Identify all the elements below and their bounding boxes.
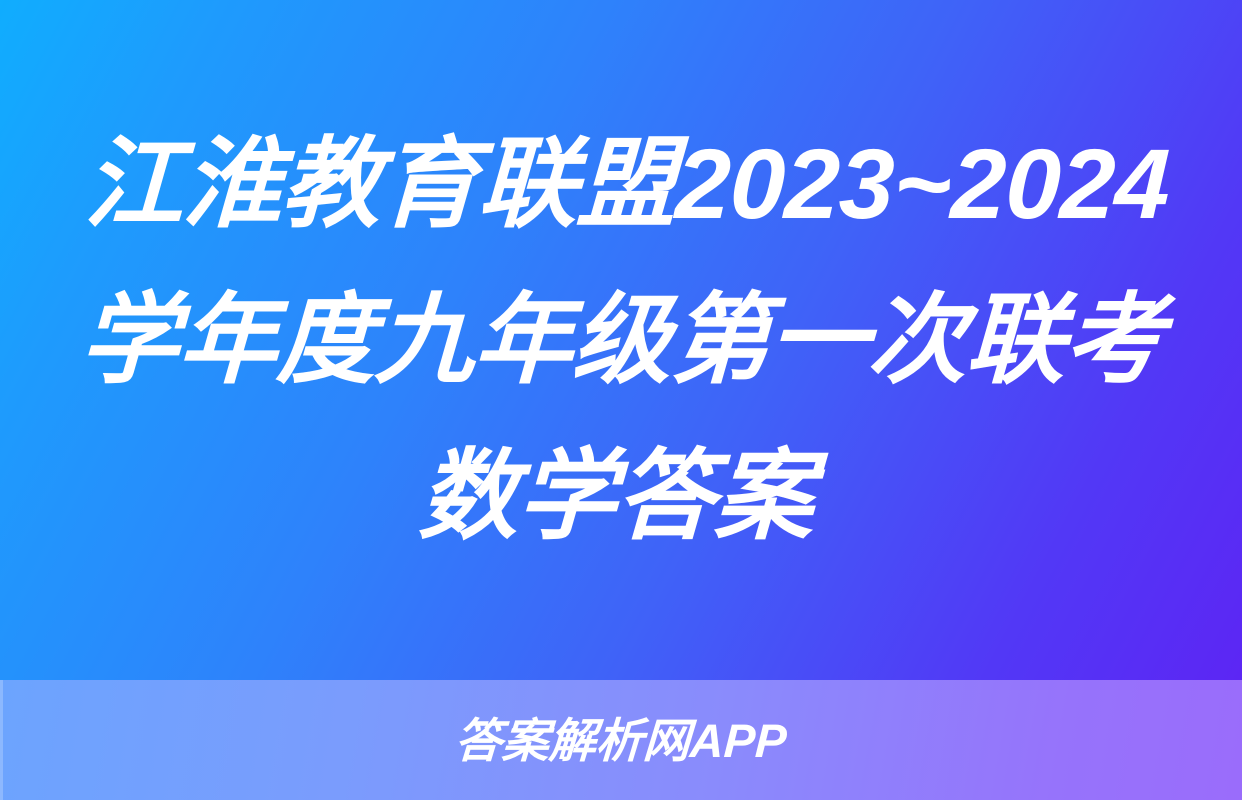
answer-poster-card: 江淮教育联盟2023~2024学年度九年级第一次联考数学答案 答案解析网APP — [0, 0, 1242, 800]
page-title: 江淮教育联盟2023~2024学年度九年级第一次联考数学答案 — [70, 106, 1171, 574]
app-brand-label: 答案解析网APP — [454, 717, 788, 764]
footer-brand-band: 答案解析网APP — [0, 680, 1242, 800]
hero-gradient-panel: 江淮教育联盟2023~2024学年度九年级第一次联考数学答案 — [0, 0, 1242, 680]
